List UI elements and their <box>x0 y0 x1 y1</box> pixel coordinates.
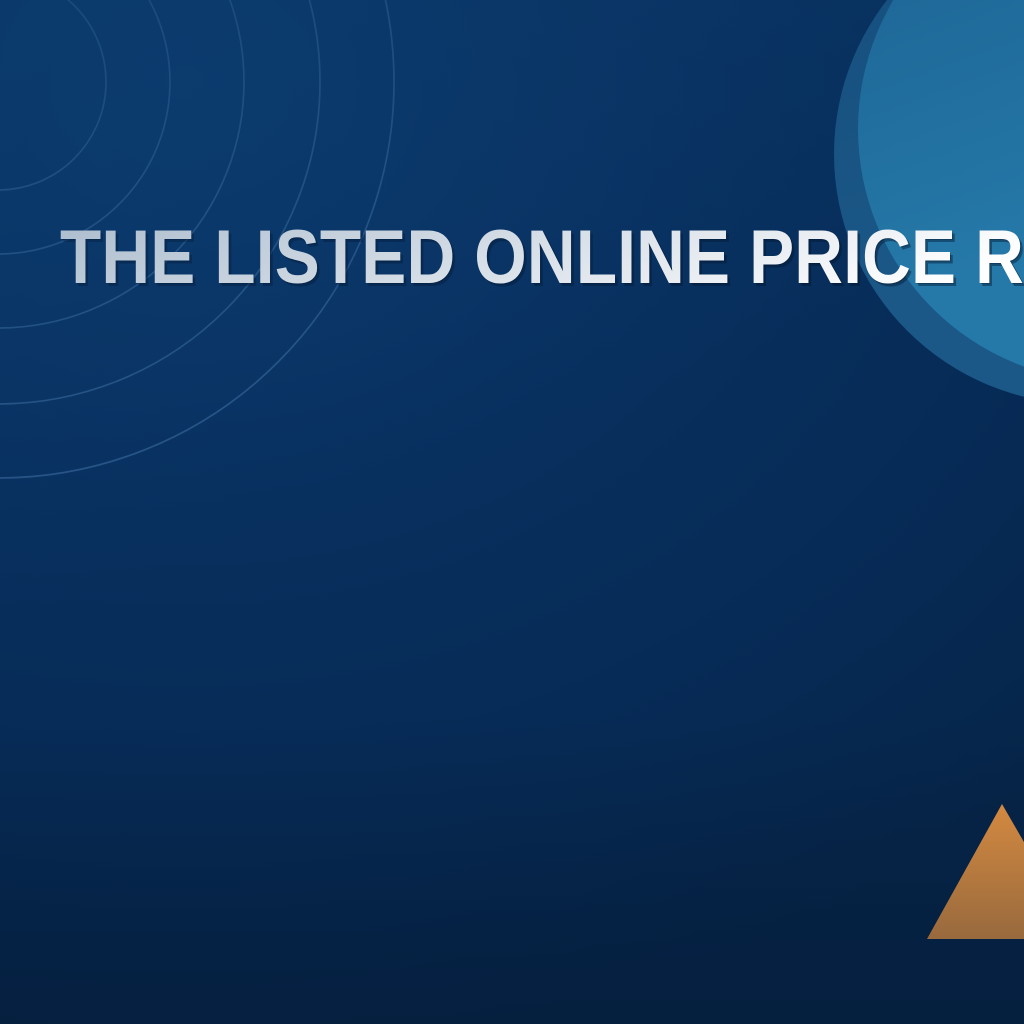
triangle-shape <box>927 804 1024 939</box>
promo-disclaimer-graphic: THE LISTED ONLINE PRICE REFLECTS A $1,00… <box>0 0 1024 1024</box>
disclaimer-text: THE LISTED ONLINE PRICE REFLECTS A $1,00… <box>51 218 973 298</box>
disclaimer-line-1: THE LISTED ONLINE PRICE REFLECTS <box>60 218 1024 298</box>
accent-triangle-decoration <box>920 800 1024 939</box>
